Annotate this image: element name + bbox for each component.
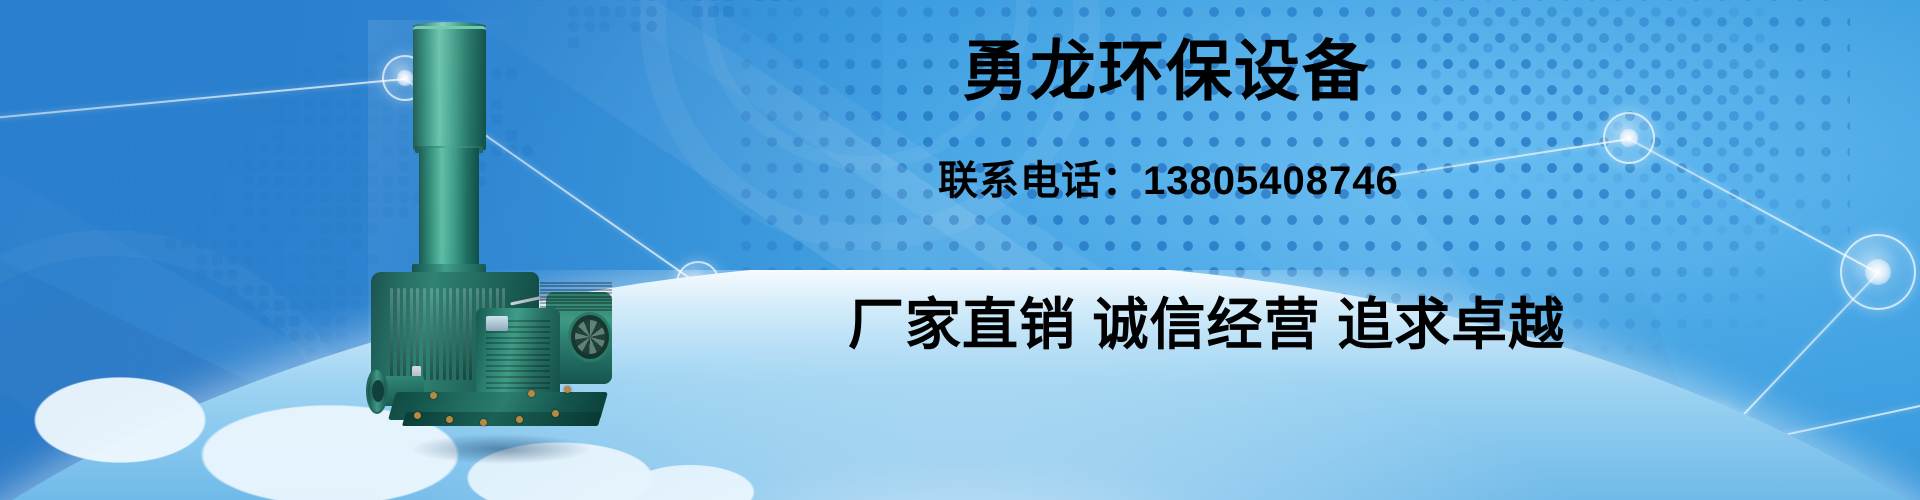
company-title: 勇龙环保设备	[962, 38, 1370, 104]
promo-banner: 勇龙环保设备 联系电话：13805408746 厂家直销 诚信经营 追求卓越	[0, 0, 1920, 500]
machine-ground-shadow	[376, 428, 626, 470]
company-slogan: 厂家直销 诚信经营 追求卓越	[848, 297, 1565, 353]
nameplate	[486, 316, 508, 331]
network-link	[1390, 138, 1629, 177]
silencer-canister	[413, 26, 486, 150]
base-frame-lower	[402, 412, 602, 426]
network-link	[1629, 138, 1879, 274]
discharge-neck	[419, 148, 479, 270]
inlet-flange-bore	[372, 380, 384, 402]
roots-blower-product-image	[368, 20, 636, 472]
network-link	[0, 78, 405, 122]
network-node	[1603, 112, 1655, 164]
contact-phone: 联系电话：13805408746	[938, 161, 1399, 201]
motor-fan-blades	[575, 320, 605, 354]
